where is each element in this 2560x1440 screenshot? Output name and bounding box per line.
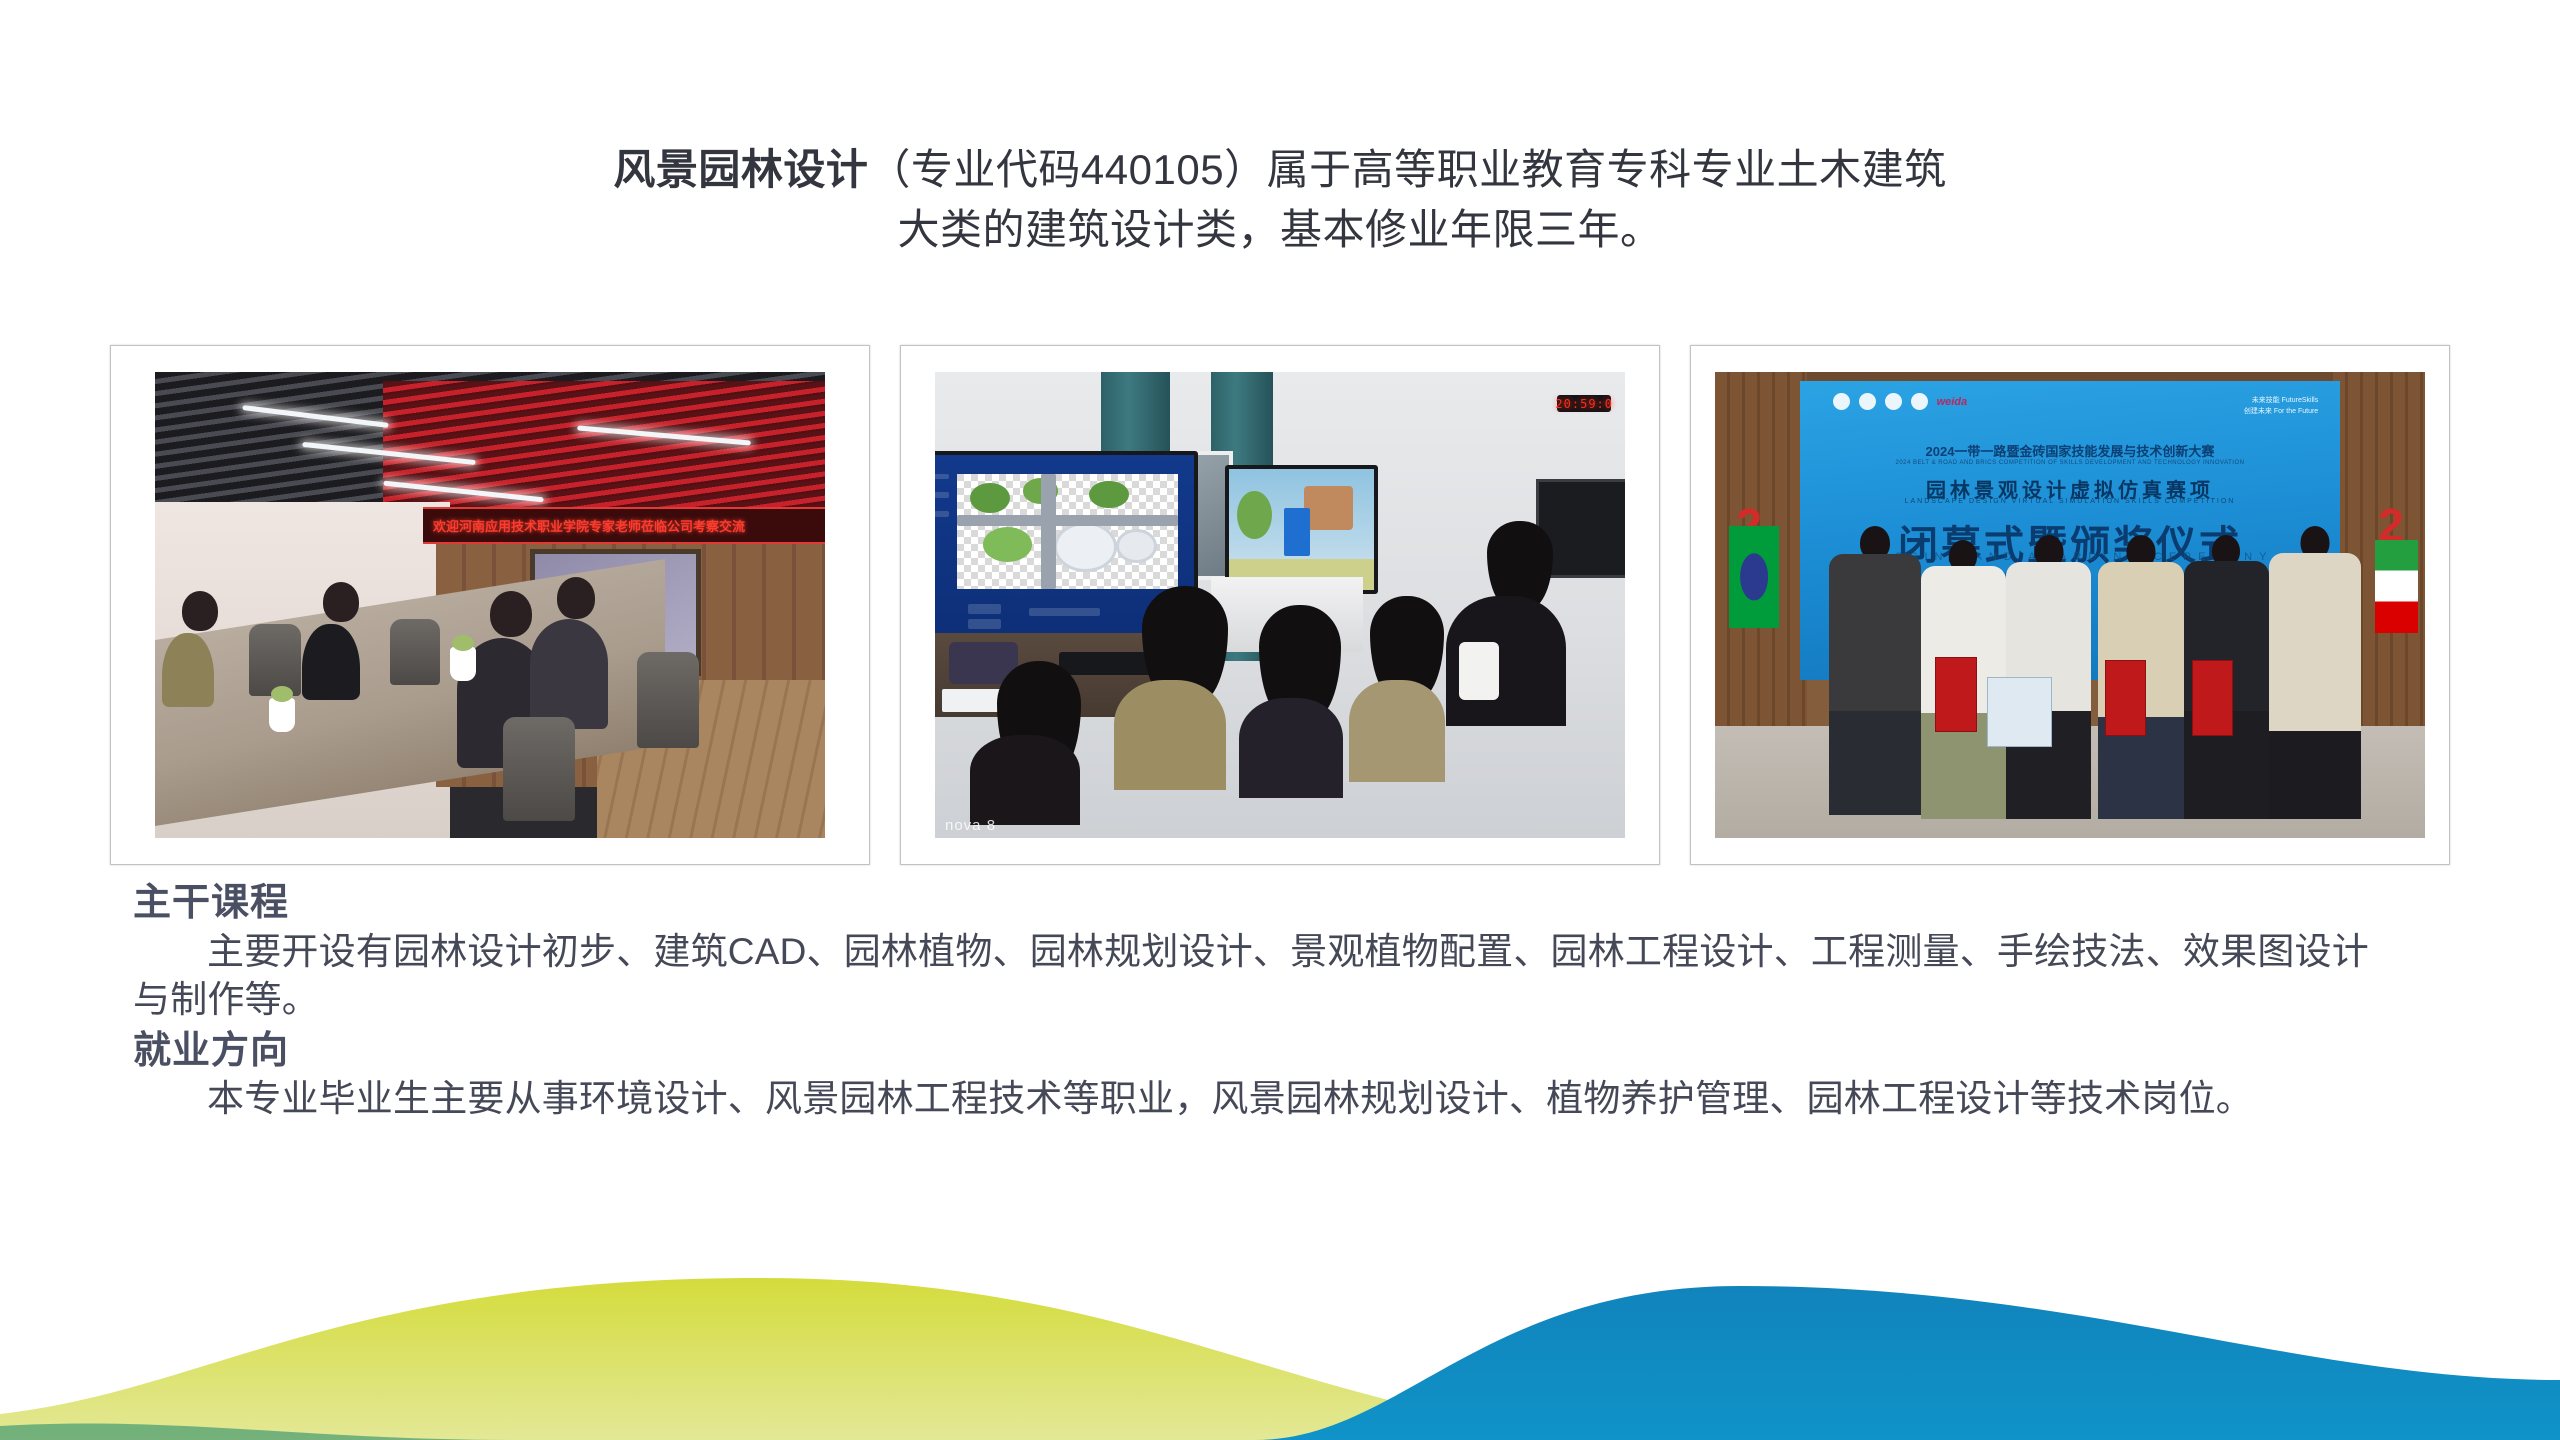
person-legs <box>1829 711 1921 815</box>
title-line-1: 风景园林设计（专业代码440105）属于高等职业教育专科专业土木建筑 <box>0 140 2560 200</box>
tree-blob <box>970 483 1010 513</box>
panel-button <box>968 619 1001 628</box>
path-strip <box>1041 474 1056 590</box>
person-student <box>1829 526 1921 815</box>
path-strip <box>957 515 1178 525</box>
slide-root: 风景园林设计（专业代码440105）属于高等职业教育专科专业土木建筑 大类的建筑… <box>0 0 2560 1440</box>
person-student <box>2184 535 2269 819</box>
design-canvas <box>957 474 1178 590</box>
sponsor-logos: weida <box>1833 393 1968 410</box>
photo-vr-landscape-lab: 20:59:0 nova 8 <box>935 372 1625 838</box>
plaza-blob <box>1054 522 1117 572</box>
photo-frame-vr-lab[interactable]: 20:59:0 nova 8 <box>900 345 1660 865</box>
jacket-panel <box>1459 642 1499 700</box>
person-teacher <box>2269 526 2361 820</box>
office-chair <box>390 619 440 685</box>
person-legs <box>2269 731 2361 819</box>
photo-frame-company-visit[interactable]: 欢迎河南应用技术职业学院专家老师莅临公司考察交流 <box>110 345 870 865</box>
person-head <box>323 582 359 622</box>
student-body <box>1239 698 1343 798</box>
slogan-line-1: 未来技能 FutureSkills <box>2244 396 2318 407</box>
section-heading-core-courses: 主干课程 <box>133 880 2393 928</box>
title-major-name: 风景园林设计 <box>613 146 868 193</box>
led-banner-text: 欢迎河南应用技术职业学院专家老师莅临公司考察交流 <box>423 516 745 535</box>
lawn-blob <box>983 527 1032 562</box>
clock-time: 20:59:0 <box>1555 397 1613 411</box>
org-logo-icon <box>1885 393 1902 410</box>
org-logo-icon <box>1911 393 1928 410</box>
property-row <box>1029 608 1101 615</box>
certificate <box>2105 660 2146 736</box>
future-skills-slogan: 未来技能 FutureSkills 创建未来 For the Future <box>2244 396 2318 417</box>
brazil-flag <box>1729 526 1779 629</box>
person-student <box>2098 535 2183 819</box>
wave-svg <box>0 1240 2560 1440</box>
secondary-monitor <box>1225 465 1378 594</box>
competition-title-cn: 2024一带一路暨金砖国家技能发展与技术创新大赛 <box>1800 441 2340 460</box>
weida-brand-text: weida <box>1937 396 1968 408</box>
dialog-box <box>1284 508 1310 556</box>
camera-watermark: nova 8 <box>945 817 996 834</box>
title-line-2: 大类的建筑设计类，基本修业年限三年。 <box>0 200 2560 260</box>
certificate <box>2192 660 2233 736</box>
office-chair <box>637 652 699 748</box>
student-body <box>1349 680 1445 782</box>
photo-gallery: 欢迎河南应用技术职业学院专家老师莅临公司考察交流 <box>110 345 2450 865</box>
office-chair <box>249 624 301 696</box>
plaza-blob <box>1116 529 1157 563</box>
wave-blue <box>1255 1286 2560 1440</box>
person-head <box>182 591 218 631</box>
section-paragraph-career-direction: 本专业毕业生主要从事环境设计、风景园林工程技术等职业，风景园林规划设计、植物养护… <box>133 1075 2393 1123</box>
table-plant <box>269 698 295 732</box>
person-student <box>2006 535 2091 819</box>
building-blob <box>1304 486 1353 530</box>
person-torso <box>1829 554 1921 711</box>
iran-flag <box>2375 540 2418 633</box>
org-logo-icon <box>1859 393 1876 410</box>
photo-award-ceremony: weida 未来技能 FutureSkills 创建未来 For the Fut… <box>1715 372 2425 838</box>
digital-clock: 20:59:0 <box>1557 395 1611 412</box>
section-heading-career-direction: 就业方向 <box>133 1028 2393 1076</box>
person-head <box>490 591 532 637</box>
page-title: 风景园林设计（专业代码440105）属于高等职业教育专科专业土木建筑 大类的建筑… <box>0 140 2560 259</box>
office-chair <box>503 717 575 821</box>
photo-frame-award-ceremony[interactable]: weida 未来技能 FutureSkills 创建未来 For the Fut… <box>1690 345 2450 865</box>
toolbar-item <box>935 511 949 517</box>
photo-company-visit-meeting: 欢迎河南应用技术职业学院专家老师莅临公司考察交流 <box>155 372 825 838</box>
section-paragraph-core-courses: 主要开设有园林设计初步、建筑CAD、园林植物、园林规划设计、景观植物配置、园林工… <box>133 928 2393 1024</box>
person-coat <box>2269 553 2361 732</box>
student-body <box>970 735 1080 825</box>
person-body <box>530 619 608 729</box>
person-head <box>557 577 595 619</box>
event-name-en: LANDSCAPE DESIGN VIRTUAL SIMULATION SKIL… <box>1800 498 2340 505</box>
slogan-line-2: 创建未来 For the Future <box>2244 407 2318 418</box>
decorative-waves <box>0 1240 2560 1440</box>
competition-title-en: 2024 BELT & ROAD AND BRICS COMPETITION O… <box>1800 460 2340 466</box>
school-placard <box>1987 677 2052 747</box>
content-body: 主干课程 主要开设有园林设计初步、建筑CAD、园林植物、园林规划设计、景观植物配… <box>133 880 2393 1123</box>
tree-blob <box>1089 481 1129 509</box>
toolbar-item <box>935 474 949 480</box>
student-body <box>1114 680 1226 790</box>
title-line-1-rest: （专业代码440105）属于高等职业教育专科专业土木建筑 <box>868 146 1946 193</box>
person-body <box>162 633 214 707</box>
panel-button <box>968 604 1001 613</box>
toolbar-item <box>935 492 949 498</box>
brics-logo-icon <box>1833 393 1850 410</box>
certificate <box>1935 657 1978 732</box>
led-welcome-banner: 欢迎河南应用技术职业学院专家老师莅临公司考察交流 <box>423 507 825 544</box>
table-plant <box>450 647 476 681</box>
